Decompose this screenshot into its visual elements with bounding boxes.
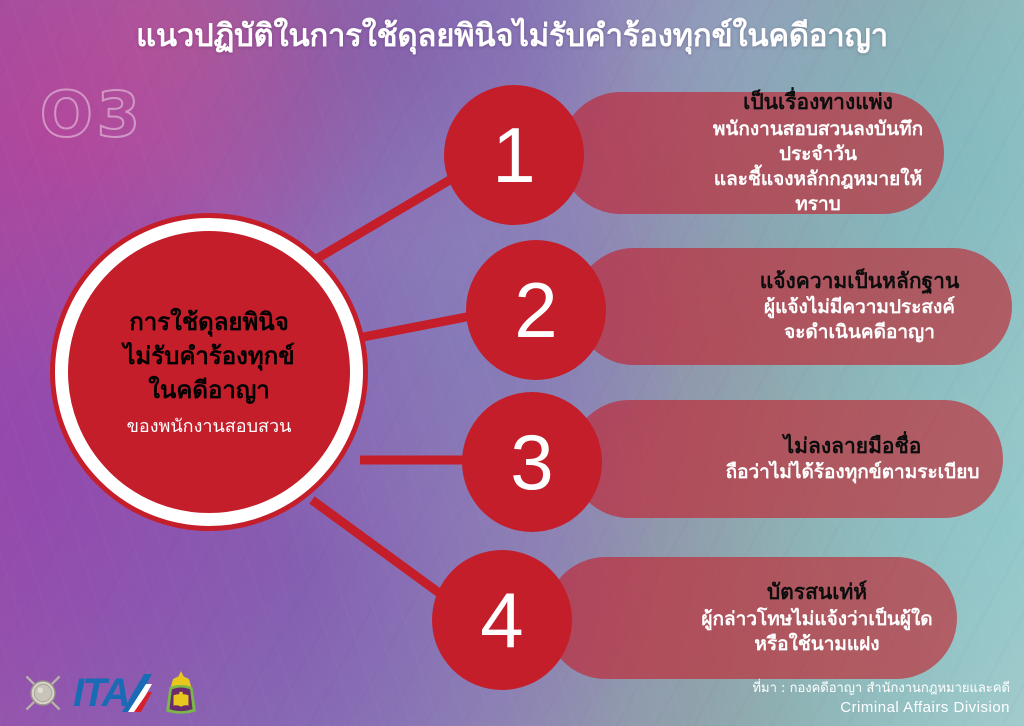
step-card-4-body-line1: ผู้กล่าวโทษไม่แจ้งว่าเป็นผู้ใด <box>701 607 932 632</box>
source-credit-thai: ที่มา : กองคดีอาญา สำนักงานกฎหมายและคดี <box>752 680 1010 698</box>
step-card-4-heading: บัตรสนเท่ห์ <box>701 579 932 606</box>
step-card-1-body-line1: พนักงานสอบสวนลงบันทึกประจำวัน <box>710 117 926 167</box>
step-card-3-body-line1: ถือว่าไม่ได้ร้องทุกข์ตามระเบียบ <box>726 460 980 485</box>
silver-seal-icon <box>20 670 66 716</box>
step-card-2-body-line1: ผู้แจ้งไม่มีความประสงค์ <box>760 295 960 320</box>
step-card-1-bar: เป็นเรื่องทางแพ่ง พนักงานสอบสวนลงบันทึกป… <box>560 92 944 214</box>
step-card-3-number-circle: 3 <box>462 392 602 532</box>
thai-flag-swoosh-icon <box>122 672 156 714</box>
step-card-1-heading: เป็นเรื่องทางแพ่ง <box>710 89 926 116</box>
garuda-emblem-icon <box>163 670 199 716</box>
step-card-2-bar: แจ้งความเป็นหลักฐาน ผู้แจ้งไม่มีความประส… <box>575 248 1012 365</box>
step-card-1-text: เป็นเรื่องทางแพ่ง พนักงานสอบสวนลงบันทึกป… <box>710 89 926 217</box>
connector-line-1 <box>318 168 470 258</box>
step-card-3-heading: ไม่ลงลายมือชื่อ <box>726 433 980 460</box>
step-card-4-text: บัตรสนเท่ห์ ผู้กล่าวโทษไม่แจ้งว่าเป็นผู้… <box>701 579 932 656</box>
step-card-2-body-line2: จะดำเนินคดีอาญา <box>760 320 960 345</box>
step-card-1-number-circle: 1 <box>444 85 584 225</box>
footer-logos: ITA <box>20 670 199 716</box>
ita-logo: ITA <box>73 672 156 714</box>
step-card-2-number-circle: 2 <box>466 240 606 380</box>
hub-subtitle: ของพนักงานสอบสวน <box>127 415 292 438</box>
step-card-3-bar: ไม่ลงลายมือชื่อ ถือว่าไม่ได้ร้องทุกข์ตาม… <box>570 400 1003 518</box>
central-hub-circle: การใช้ดุลยพินิจ ไม่รับคำร้องทุกข์ ในคดีอ… <box>55 218 363 526</box>
source-credit: ที่มา : กองคดีอาญา สำนักงานกฎหมายและคดี … <box>752 680 1010 718</box>
ita-logo-text: ITA <box>73 673 128 713</box>
step-card-4-bar: บัตรสนเท่ห์ ผู้กล่าวโทษไม่แจ้งว่าเป็นผู้… <box>545 557 957 679</box>
step-card-1-body-line2: และชี้แจงหลักกฎหมายให้ทราบ <box>710 167 926 217</box>
hub-main-line-1: การใช้ดุลยพินิจ <box>123 305 294 339</box>
hub-main-line-2: ไม่รับคำร้องทุกข์ <box>123 339 294 373</box>
step-card-4-number-circle: 4 <box>432 550 572 690</box>
infographic-canvas: แนวปฏิบัติในการใช้ดุลยพินิจไม่รับคำร้องท… <box>0 0 1024 726</box>
hub-main-text: การใช้ดุลยพินิจ ไม่รับคำร้องทุกข์ ในคดีอ… <box>123 305 294 407</box>
step-card-3-text: ไม่ลงลายมือชื่อ ถือว่าไม่ได้ร้องทุกข์ตาม… <box>726 433 980 485</box>
step-card-2-heading: แจ้งความเป็นหลักฐาน <box>760 268 960 295</box>
source-credit-english: Criminal Affairs Division <box>752 698 1010 718</box>
hub-main-line-3: ในคดีอาญา <box>123 373 294 407</box>
step-card-2-text: แจ้งความเป็นหลักฐาน ผู้แจ้งไม่มีความประส… <box>760 268 960 345</box>
step-card-4-body-line2: หรือใช้นามแฝง <box>701 632 932 657</box>
